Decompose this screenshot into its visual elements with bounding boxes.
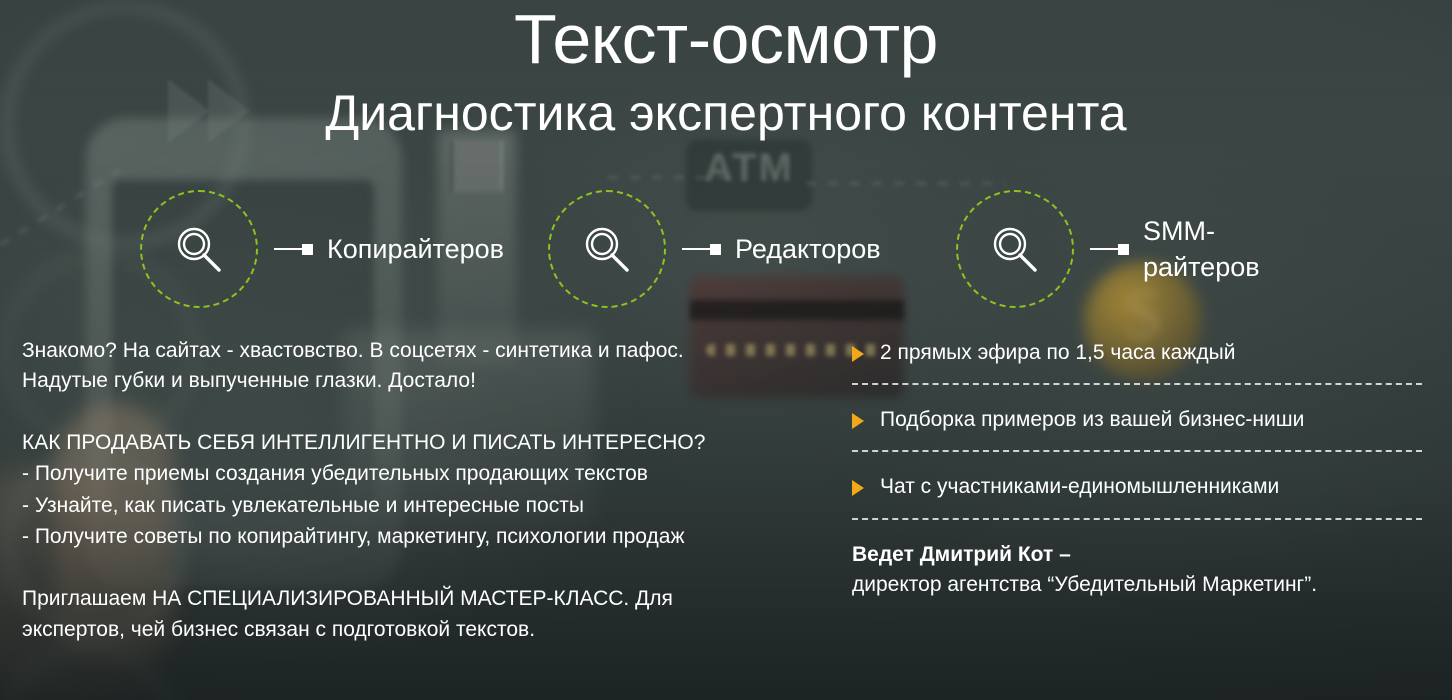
feature-row: Подборка примеров из вашей бизнес-ниши [852,407,1422,452]
host-info: Ведет Дмитрий Кот – директор агентства “… [852,540,1422,601]
page-title: Текст-осмотр [0,4,1452,74]
invitation-paragraph: Приглашаем НА СПЕЦИАЛИЗИРОВАННЫЙ МАСТЕР-… [22,583,822,646]
triangle-bullet-icon [852,413,864,429]
magnifier-ring [956,190,1074,308]
left-copy-column: Знакомо? На сайтах - хвастовство. В соцс… [22,336,822,646]
connector-square [710,244,721,255]
connector-square [302,244,313,255]
benefits-heading: КАК ПРОДАВАТЬ СЕБЯ ИНТЕЛЛИГЕНТНО И ПИСАТ… [22,427,822,459]
audience-row: Копирайтеров Редакторов [0,186,1452,312]
feature-label: 2 прямых эфира по 1,5 часа каждый [880,340,1235,365]
connector-line [1090,244,1129,255]
benefits-block: КАК ПРОДАВАТЬ СЕБЯ ИНТЕЛЛИГЕНТНО И ПИСАТ… [22,427,822,553]
triangle-bullet-icon [852,480,864,496]
audience-label: Редакторов [735,231,881,267]
intro-line-2: Надутые губки и выпученные глазки. Доста… [22,366,822,396]
invitation-line-1: Приглашаем НА СПЕЦИАЛИЗИРОВАННЫЙ МАСТЕР-… [22,583,822,615]
host-name: Ведет Дмитрий Кот – [852,540,1422,570]
intro-line-1: Знакомо? На сайтах - хвастовство. В соцс… [22,336,822,366]
host-role: директор агентства “Убедительный Маркети… [852,570,1422,600]
connector-square [1118,244,1129,255]
magnifier-icon [169,219,229,279]
audience-item-copywriters: Копирайтеров [140,186,497,312]
benefit-item: - Получите приемы создания убедительных … [22,458,822,490]
audience-item-smm-writers: SMM-райтеров [956,186,1313,312]
invitation-line-2: экспертов, чей бизнес связан с подготовк… [22,614,822,646]
connector-line [682,244,721,255]
connector-stem [1090,248,1118,250]
benefit-item: - Узнайте, как писать увлекательные и ин… [22,490,822,522]
audience-label: SMM-райтеров [1143,213,1313,286]
slide-content: Текст-осмотр Диагностика экспертного кон… [0,0,1452,700]
triangle-bullet-icon [852,346,864,362]
slide-root: ATM $ Текст-осмотр Диагностика экспертно… [0,0,1452,700]
connector-stem [682,248,710,250]
feature-label: Подборка примеров из вашей бизнес-ниши [880,407,1304,432]
magnifier-ring [140,190,258,308]
magnifier-icon [577,219,637,279]
connector-stem [274,248,302,250]
connector-line [274,244,313,255]
intro-paragraph: Знакомо? На сайтах - хвастовство. В соцс… [22,336,822,397]
feature-row: 2 прямых эфира по 1,5 часа каждый [852,340,1422,385]
page-subtitle: Диагностика экспертного контента [0,88,1452,138]
right-feature-column: 2 прямых эфира по 1,5 часа каждый Подбор… [852,340,1422,600]
feature-row: Чат с участниками-единомышленниками [852,474,1422,519]
magnifier-icon [985,219,1045,279]
feature-label: Чат с участниками-единомышленниками [880,474,1279,499]
magnifier-ring [548,190,666,308]
benefit-item: - Получите советы по копирайтингу, марке… [22,521,822,553]
audience-label: Копирайтеров [327,231,497,267]
audience-item-editors: Редакторов [548,186,881,312]
